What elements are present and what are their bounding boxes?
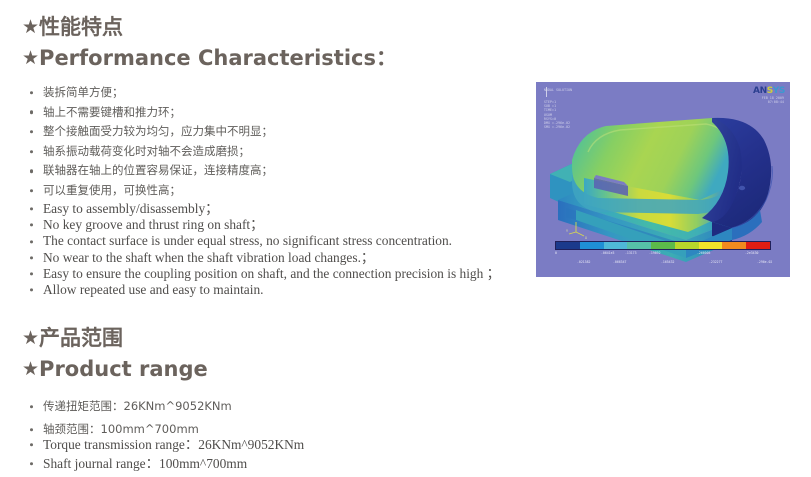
fea-color-legend [555, 241, 771, 250]
fea-info-lines: STEP=1 SUB =1 TIME=1 USUM RSYS=0 DMX =.2… [544, 100, 570, 129]
product-range-bullets-en: Torque transmission range：26KNm^9052KNm … [30, 435, 304, 473]
legend-band [722, 242, 746, 249]
product-range-title-cn: ★产品范围 [22, 325, 208, 352]
list-item: Allow repeated use and easy to maintain. [30, 282, 500, 298]
legend-tick: .266005 [697, 251, 710, 255]
legend-band [699, 242, 723, 249]
bullet-icon [30, 208, 33, 211]
legend-band [675, 242, 699, 249]
fea-legend-ticks: 0 .0641e3 .13173 .19892 .266005 .2e3430 … [552, 251, 776, 259]
bullet-icon [30, 443, 33, 446]
performance-title-cn: ★性能特点 [22, 14, 397, 41]
list-item: Easy to assembly/disassembly； [30, 201, 500, 217]
list-item-text: Easy to ensure the coupling position on … [43, 266, 500, 281]
list-item: No key groove and thrust ring on shaft； [30, 217, 500, 233]
bullet-icon [30, 462, 33, 465]
legend-band [651, 242, 675, 249]
performance-title-en-text: Performance Characteristics： [39, 46, 397, 70]
list-item: 联轴器在轴上的位置容易保证，连接精度高； [30, 161, 273, 181]
legend-tick: .13173 [625, 251, 637, 255]
legend-tick: .165432 [661, 260, 674, 264]
product-range-title-cn-text: 产品范围 [39, 326, 123, 350]
bullet-icon [30, 130, 33, 133]
bullet-icon [30, 240, 33, 243]
list-item: 整个接触面受力较为均匀，应力集中不明显； [30, 122, 273, 142]
svg-text:X: X [585, 236, 588, 240]
list-item: No wear to the shaft when the shaft vibr… [30, 250, 500, 266]
list-item-text: 传递扭矩范围：26KNm^9052KNm [43, 399, 232, 413]
list-item-text: 联轴器在轴上的位置容易保证，连接精度高； [43, 163, 273, 177]
performance-title-cn-text: 性能特点 [39, 15, 123, 39]
product-range-title-en-text: Product range [39, 357, 208, 381]
list-item-text: 装拆简单方便； [43, 85, 124, 99]
star-icon: ★ [22, 325, 39, 351]
bullet-icon [30, 224, 33, 227]
bullet-icon [30, 289, 33, 292]
bullet-icon [30, 428, 33, 431]
legend-band [604, 242, 628, 249]
legend-tick: .0641e3 [601, 251, 614, 255]
list-item-text: 整个接触面受力较为均匀，应力集中不明显； [43, 124, 273, 138]
list-item: 传递扭矩范围：26KNm^9052KNm [30, 395, 232, 418]
bullet-icon [30, 405, 33, 408]
bullet-icon [30, 272, 33, 275]
star-icon: ★ [22, 45, 39, 72]
list-item-text: 轴颈范围：100mm^700mm [43, 422, 199, 436]
bullet-icon [30, 91, 33, 94]
list-item: Easy to ensure the coupling position on … [30, 266, 500, 282]
legend-band [746, 242, 770, 249]
fea-meta-lines: FEB 18 2009 07:08:44 [762, 96, 784, 104]
star-icon: ★ [22, 356, 39, 383]
fea-canvas: X Y NODAL SOLUTION STEP=1 SUB =1 TIME=1 … [536, 82, 790, 277]
product-range-heading: ★产品范围 ★Product range [22, 325, 208, 384]
product-range-title-en: ★Product range [22, 356, 208, 384]
bullet-icon [30, 189, 33, 192]
list-item: 装拆简单方便； [30, 83, 273, 103]
svg-text:Y: Y [566, 229, 568, 233]
list-item: 轴上不需要键槽和推力环； [30, 103, 273, 123]
legend-tick: .296e-02 [757, 260, 772, 264]
legend-tick: .2e3430 [745, 251, 758, 255]
list-item-text: The contact surface is under equal stres… [43, 233, 452, 248]
ansys-fea-figure: X Y NODAL SOLUTION STEP=1 SUB =1 TIME=1 … [536, 82, 790, 277]
fea-header-text: NODAL SOLUTION [544, 88, 572, 92]
list-item-text: Torque transmission range：26KNm^9052KNm [43, 437, 304, 452]
bullet-icon [30, 169, 33, 172]
bullet-icon [30, 256, 33, 259]
legend-tick: .066347 [613, 260, 626, 264]
list-item-text: No key groove and thrust ring on shaft； [43, 217, 264, 232]
legend-tick: .021382 [577, 260, 590, 264]
list-item-text: No wear to the shaft when the shaft vibr… [43, 250, 374, 265]
list-item: 轴系振动载荷变化时对轴不会造成磨损； [30, 142, 273, 162]
product-spec-page: ★性能特点 ★Performance Characteristics： 装拆简单… [0, 0, 811, 477]
legend-band [627, 242, 651, 249]
legend-tick: .19892 [649, 251, 661, 255]
legend-tick: .232277 [709, 260, 722, 264]
legend-band [556, 242, 580, 249]
list-item: Torque transmission range：26KNm^9052KNm [30, 435, 304, 454]
bullet-icon [30, 150, 33, 153]
performance-heading: ★性能特点 ★Performance Characteristics： [22, 14, 397, 73]
performance-bullets-cn: 装拆简单方便； 轴上不需要键槽和推力环； 整个接触面受力较为均匀，应力集中不明显… [30, 83, 273, 201]
list-item-text: 轴上不需要键槽和推力环； [43, 105, 181, 119]
list-item: Shaft journal range：100mm^700mm [30, 454, 304, 473]
bullet-icon [30, 111, 33, 114]
list-item-text: Allow repeated use and easy to maintain. [43, 282, 264, 297]
list-item-text: Easy to assembly/disassembly； [43, 201, 219, 216]
list-item-text: 可以重复使用，可换性高； [43, 183, 181, 197]
ansys-logo: ANSYS [753, 86, 785, 96]
list-item-text: 轴系振动载荷变化时对轴不会造成磨损； [43, 144, 250, 158]
performance-bullets-en: Easy to assembly/disassembly； No key gro… [30, 201, 500, 298]
legend-tick: 0 [555, 251, 557, 255]
list-item: 可以重复使用，可换性高； [30, 181, 273, 201]
list-item: The contact surface is under equal stres… [30, 233, 500, 249]
legend-band [580, 242, 604, 249]
list-item-text: Shaft journal range：100mm^700mm [43, 456, 247, 471]
performance-title-en: ★Performance Characteristics： [22, 45, 397, 73]
star-icon: ★ [22, 14, 39, 40]
